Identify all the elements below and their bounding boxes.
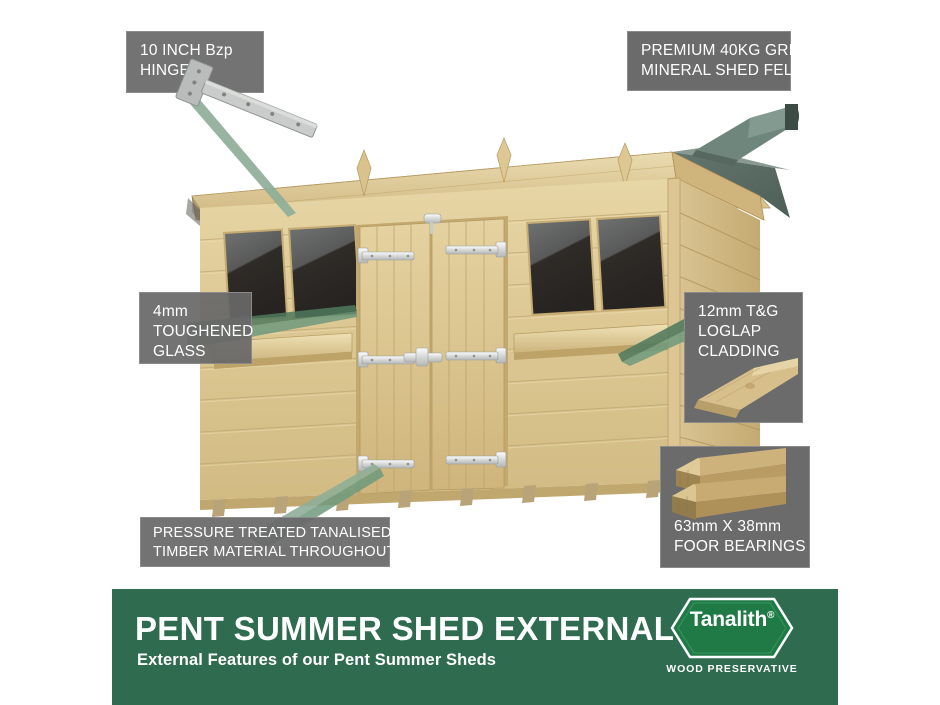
loglap-board-image	[692, 352, 804, 422]
callout-loglap-cladding-line-1: 12mm T&G	[698, 302, 789, 322]
callout-toughened-glass-line-1: 4mm	[153, 302, 238, 322]
callout-pressure-treated[interactable]: PRESSURE TREATED TANALISED TIMBER MATERI…	[140, 517, 390, 567]
footer-banner: PENT SUMMER SHED EXTERNAL External Featu…	[112, 589, 838, 705]
callout-shed-felt[interactable]: PREMIUM 40KG GREEN MINERAL SHED FELT	[627, 31, 791, 91]
page-subtitle: External Features of our Pent Summer She…	[137, 651, 496, 670]
tanalith-tagline: WOOD PRESERVATIVE	[662, 663, 802, 675]
tanalith-wordmark: Tanalith®	[662, 608, 802, 632]
callout-shed-felt-line-1: PREMIUM 40KG GREEN	[641, 41, 777, 61]
callout-loglap-cladding-line-2: LOGLAP	[698, 322, 789, 342]
callout-pressure-treated-line-1: PRESSURE TREATED TANALISED	[153, 524, 377, 543]
tanalith-wordmark-text: Tanalith	[690, 608, 767, 631]
timber-bearers-image	[668, 446, 788, 532]
callout-toughened-glass-line-2: TOUGHENED	[153, 322, 238, 342]
callout-shed-felt-line-2: MINERAL SHED FELT	[641, 61, 777, 81]
pointer-felt	[560, 125, 700, 185]
tanalith-logo: Tanalith® WOOD PRESERVATIVE	[662, 597, 802, 695]
callout-floor-bearings-line-2: FOOR BEARINGS	[674, 537, 806, 557]
callout-toughened-glass[interactable]: 4mm TOUGHENED GLASS	[139, 292, 252, 364]
infographic-page: 10 INCH Bzp HINGES PREMIUM 40KG GREEN MI…	[0, 0, 940, 705]
registered-mark: ®	[767, 610, 774, 621]
felt-roll-image	[688, 96, 806, 166]
callout-toughened-glass-line-3: GLASS	[153, 342, 238, 362]
tee-hinge-image	[160, 58, 330, 150]
page-title: PENT SUMMER SHED EXTERNAL	[135, 610, 674, 648]
callout-pressure-treated-line-2: TIMBER MATERIAL THROUGHOUT.	[153, 543, 377, 562]
